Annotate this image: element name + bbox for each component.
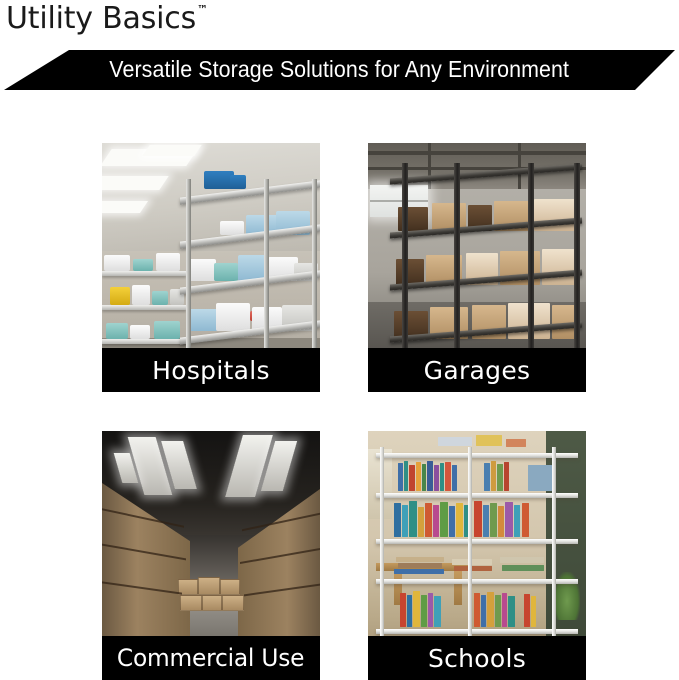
tile-caption-bar: Garages: [368, 348, 586, 392]
hospital-wire-shelving-unit: [180, 183, 320, 353]
garage-wire-shelving-unit: [390, 163, 582, 353]
tile-caption-bar: Commercial Use: [102, 636, 320, 680]
use-case-tile-hospitals[interactable]: Hospitals: [102, 143, 320, 392]
tile-caption-bar: Schools: [368, 636, 586, 680]
use-case-tile-commercial-use[interactable]: Commercial Use: [102, 431, 320, 680]
tile-caption-text: Garages: [424, 356, 531, 385]
brand-logo: Utility Basics ™: [6, 1, 208, 41]
ceiling-light-icon: [102, 176, 169, 190]
tile-caption-text: Commercial Use: [117, 644, 304, 672]
brand-name: Utility Basics: [6, 1, 196, 37]
ceiling-light-icon: [142, 145, 201, 156]
ceiling-light-icon: [102, 201, 148, 213]
headline-banner: Versatile Storage Solutions for Any Envi…: [4, 50, 675, 90]
trademark-symbol: ™: [197, 3, 208, 17]
use-case-grid: Hospitals: [102, 143, 586, 668]
tile-caption-text: Hospitals: [152, 356, 270, 385]
hospital-low-shelving: [102, 271, 186, 349]
school-wire-shelving-unit: [376, 453, 578, 639]
use-case-tile-schools[interactable]: Schools: [368, 431, 586, 680]
use-case-tile-garages[interactable]: Garages: [368, 143, 586, 392]
tile-caption-bar: Hospitals: [102, 348, 320, 392]
headline-text: Versatile Storage Solutions for Any Envi…: [110, 56, 570, 83]
tile-caption-text: Schools: [428, 644, 526, 673]
